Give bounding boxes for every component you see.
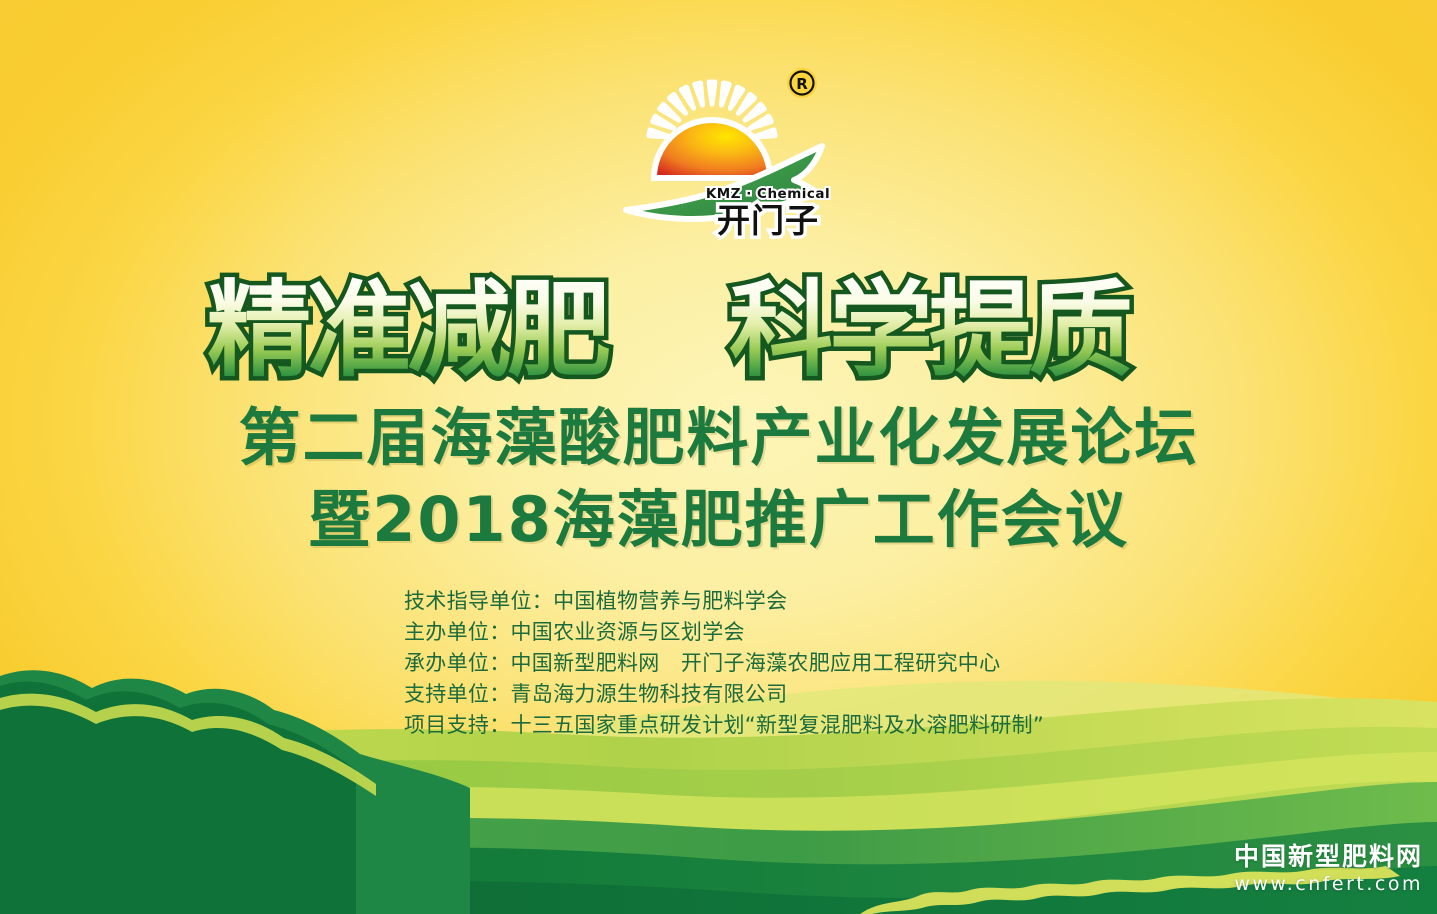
logo-brand-text: KMZ · Chemical 开门子: [706, 186, 830, 240]
info-line-project-support: 项目支持：十三五国家重点研发计划“新型复混肥料及水溶肥料研制”: [404, 710, 1164, 741]
conference-poster: R KMZ · Chemical 开门子 精: [0, 0, 1437, 914]
watermark-url: www.cnfert.com: [1234, 872, 1423, 896]
registered-trademark-icon: R: [787, 68, 817, 98]
headline: 精准减肥 科学提质: [0, 268, 1437, 388]
info-line-host: 主办单位：中国农业资源与区划学会: [404, 617, 1164, 648]
info-line-technical-guidance: 技术指导单位：中国植物营养与肥料学会: [404, 586, 1164, 617]
svg-text:R: R: [796, 75, 808, 93]
headline-part-2: 科学提质: [729, 269, 1130, 388]
organizer-info-block: 技术指导单位：中国植物营养与肥料学会 主办单位：中国农业资源与区划学会 承办单位…: [404, 586, 1164, 741]
subtitle-line-2: 暨2018海藻肥推广工作会议: [0, 486, 1437, 554]
info-line-supporter: 支持单位：青岛海力源生物科技有限公司: [404, 679, 1164, 710]
logo-latin-name: KMZ · Chemical: [706, 186, 830, 202]
headline-part-1: 精准减肥: [207, 269, 609, 388]
info-line-organizer: 承办单位：中国新型肥料网 开门子海藻农肥应用工程研究中心: [404, 648, 1164, 679]
kaimenzi-logo: R KMZ · Chemical 开门子: [616, 60, 846, 250]
watermark-site-name: 中国新型肥料网: [1234, 842, 1423, 872]
site-watermark: 中国新型肥料网 www.cnfert.com: [1234, 842, 1423, 896]
logo-chinese-name: 开门子: [717, 201, 819, 240]
subtitle-line-1: 第二届海藻酸肥料产业化发展论坛: [0, 404, 1437, 472]
